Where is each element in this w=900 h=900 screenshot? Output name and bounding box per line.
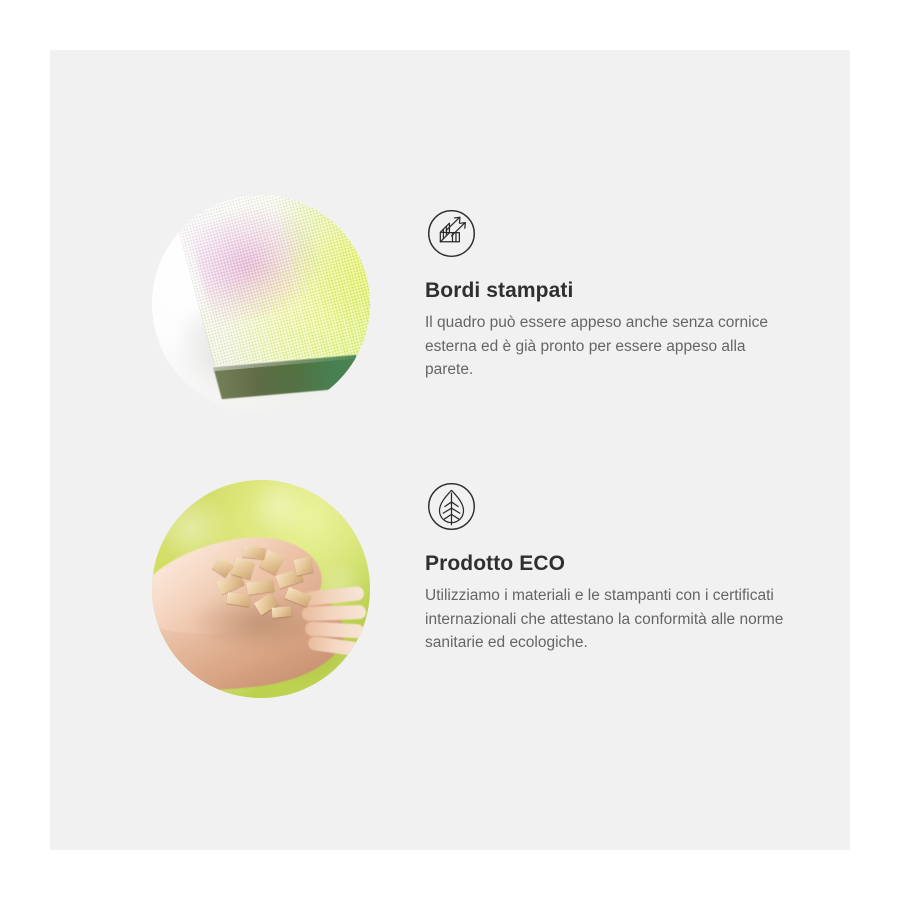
wood-chip [242, 546, 265, 559]
wood-chip [226, 592, 250, 606]
wood-chip [293, 556, 313, 575]
content-panel: Bordi stampati Il quadro può essere appe… [50, 50, 850, 850]
canvas-edge-photo [152, 195, 370, 413]
wood-chip [272, 606, 292, 618]
printed-canvas-edges-icon [425, 207, 478, 260]
leaf-icon [425, 480, 478, 533]
finger [307, 635, 360, 656]
feature-row-eco-product: Prodotto ECO Utilizziamo i materiali e l… [50, 480, 850, 770]
feature-title: Prodotto ECO [425, 551, 815, 577]
feature-description: Utilizziamo i materiali e le stampanti c… [425, 584, 795, 654]
wood-chip-pile [213, 545, 326, 623]
wood-chip [284, 587, 310, 607]
feature-row-printed-edges: Bordi stampati Il quadro può essere appe… [50, 195, 850, 475]
product-features-page: Bordi stampati Il quadro può essere appe… [0, 0, 900, 900]
eco-wood-chips-photo [152, 480, 370, 698]
feature-text-printed-edges: Bordi stampati Il quadro può essere appe… [425, 207, 815, 381]
feature-description: Il quadro può essere appeso anche senza … [425, 311, 795, 381]
feature-title: Bordi stampati [425, 278, 815, 304]
feature-text-eco-product: Prodotto ECO Utilizziamo i materiali e l… [425, 480, 815, 654]
